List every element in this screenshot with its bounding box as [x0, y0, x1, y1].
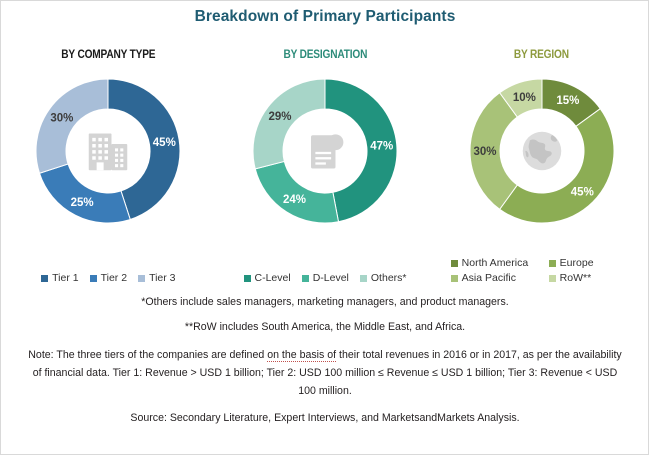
donut-chart-designation: 47%24%29% — [245, 71, 405, 231]
legend-swatch-icon — [302, 275, 309, 282]
panel-designation: BY DESIGNATION 47%24%29% C-LevelD-LevelO… — [217, 40, 434, 290]
legend-label: Asia Pacific — [462, 272, 516, 284]
slice-value-label: 45% — [570, 186, 593, 198]
panel-company-type: BY COMPANY TYPE 45%25%30% — [0, 40, 217, 290]
legend-swatch-icon — [451, 275, 458, 282]
globe-icon — [511, 120, 573, 182]
legend-item[interactable]: Asia Pacific — [451, 272, 535, 284]
slice-value-label: 24% — [283, 194, 306, 206]
slice-value-label: 47% — [370, 141, 393, 153]
donut-chart-company-type: 45%25%30% — [28, 71, 188, 231]
legend-company-type: Tier 1Tier 2Tier 3 — [0, 272, 217, 284]
legend-label: North America — [462, 257, 529, 269]
note-spellcheck-phrase: on the basis of — [267, 349, 336, 362]
footnotes-block: *Others include sales managers, marketin… — [0, 296, 650, 424]
page-title: Breakdown of Primary Participants — [0, 8, 650, 26]
footnote-row: **RoW includes South America, the Middle… — [0, 321, 650, 333]
certificate-document-icon — [294, 120, 356, 182]
charts-row: BY COMPANY TYPE 45%25%30% — [0, 40, 650, 290]
legend-region: North AmericaEuropeAsia PacificRoW** — [433, 257, 650, 284]
legend-label: RoW** — [560, 272, 592, 284]
slice-value-label: 15% — [556, 95, 579, 107]
legend-swatch-icon — [451, 260, 458, 267]
legend-label: D-Level — [313, 272, 349, 284]
legend-swatch-icon — [244, 275, 251, 282]
legend-swatch-icon — [90, 275, 97, 282]
legend-item[interactable]: Europe — [549, 257, 633, 269]
legend-label: Others* — [371, 272, 407, 284]
slice-value-label: 45% — [153, 137, 176, 149]
panel-title-designation: BY DESIGNATION — [230, 49, 421, 61]
legend-designation: C-LevelD-LevelOthers* — [217, 272, 434, 284]
note-tiers: Note: The three tiers of the companies a… — [25, 346, 625, 400]
panel-title-region: BY REGION — [446, 49, 637, 61]
note-part1: Note: The three tiers of the companies a… — [28, 349, 267, 361]
legend-item[interactable]: Tier 2 — [90, 272, 127, 284]
legend-item[interactable]: C-Level — [244, 272, 291, 284]
panel-title-company-type: BY COMPANY TYPE — [13, 49, 204, 61]
legend-label: Europe — [560, 257, 594, 269]
legend-item[interactable]: Tier 3 — [138, 272, 175, 284]
office-buildings-icon — [77, 120, 139, 182]
panel-region: BY REGION 15%45%30%10% North AmericaEuro… — [433, 40, 650, 290]
footnote-others: *Others include sales managers, marketin… — [0, 296, 650, 308]
legend-item[interactable]: Others* — [360, 272, 407, 284]
slice-value-label: 29% — [268, 111, 291, 123]
legend-item[interactable]: North America — [451, 257, 535, 269]
legend-item[interactable]: RoW** — [549, 272, 633, 284]
legend-swatch-icon — [360, 275, 367, 282]
legend-swatch-icon — [41, 275, 48, 282]
donut-chart-region: 15%45%30%10% — [462, 71, 622, 231]
legend-label: Tier 3 — [149, 272, 175, 284]
legend-swatch-icon — [138, 275, 145, 282]
slice-value-label: 30% — [473, 146, 496, 158]
legend-item[interactable]: Tier 1 — [41, 272, 78, 284]
slice-value-label: 25% — [71, 197, 94, 209]
legend-label: Tier 1 — [52, 272, 78, 284]
legend-item[interactable]: D-Level — [302, 272, 349, 284]
legend-label: C-Level — [255, 272, 291, 284]
slice-value-label: 10% — [513, 92, 536, 104]
source-line: Source: Secondary Literature, Expert Int… — [0, 412, 650, 424]
legend-label: Tier 2 — [101, 272, 127, 284]
slice-value-label: 30% — [51, 112, 74, 124]
legend-swatch-icon — [549, 260, 556, 267]
legend-swatch-icon — [549, 275, 556, 282]
